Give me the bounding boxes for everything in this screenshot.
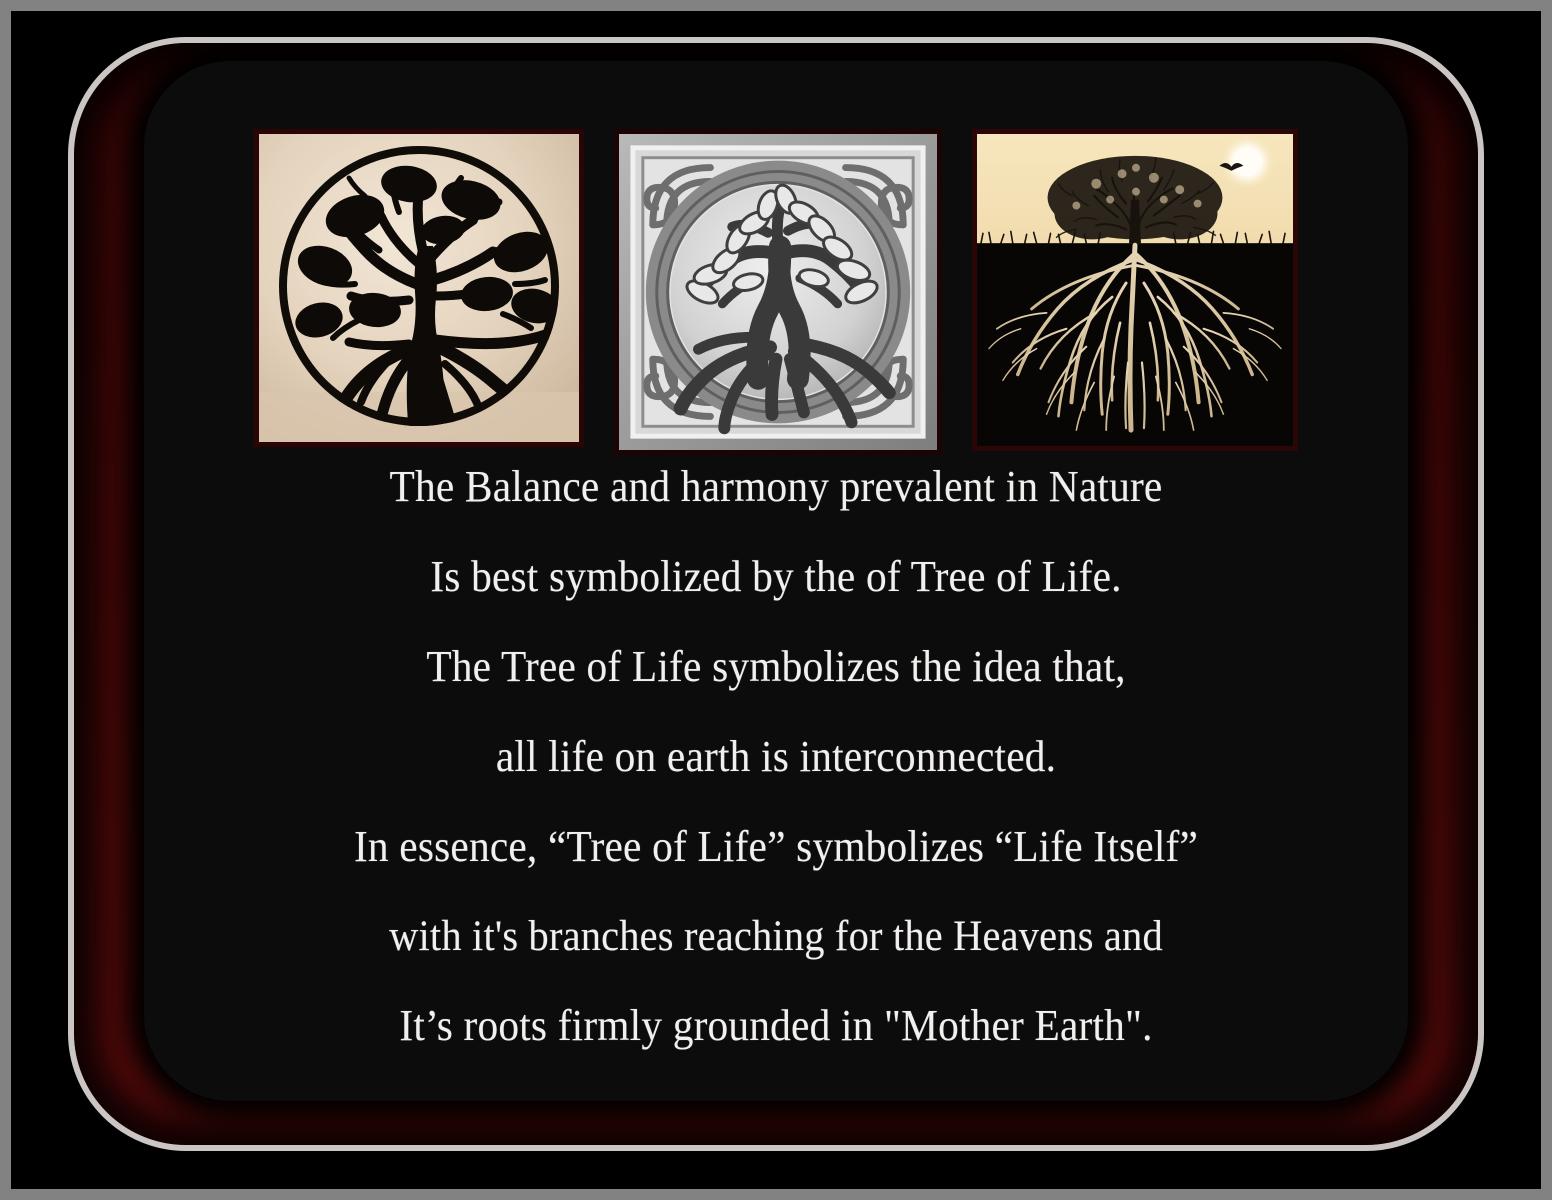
poster-root: The Balance and harmony prevalent in Nat…	[0, 0, 1552, 1200]
stained-glass-celtic-tree-of-life-panel	[614, 129, 942, 455]
tree-with-roots-silhouette-sunset	[972, 129, 1298, 451]
caption-block: The Balance and harmony prevalent in Nat…	[144, 459, 1408, 1101]
stained-glass-graphic	[619, 134, 937, 450]
caption-line-3: The Tree of Life symbolizes the idea tha…	[182, 645, 1370, 689]
caption-line-1: The Balance and harmony prevalent in Nat…	[182, 465, 1370, 509]
circular-metal-tree-of-life-wall-art	[254, 129, 584, 447]
maroon-plaque-border: The Balance and harmony prevalent in Nat…	[68, 37, 1484, 1151]
caption-line-7: It’s roots firmly grounded in "Mother Ea…	[182, 1004, 1370, 1048]
tree-roots-sunset-graphic	[977, 134, 1293, 446]
caption-line-4: all life on earth is interconnected.	[182, 735, 1370, 779]
caption-line-2: Is best symbolized by the of Tree of Lif…	[182, 555, 1370, 599]
black-matte: The Balance and harmony prevalent in Nat…	[11, 11, 1541, 1189]
content-panel: The Balance and harmony prevalent in Nat…	[144, 61, 1408, 1101]
caption-line-5: In essence, “Tree of Life” symbolizes “L…	[182, 825, 1370, 869]
caption-line-6: with it's branches reaching for the Heav…	[182, 915, 1370, 958]
circular-tree-art-graphic	[259, 134, 579, 442]
image-strip	[144, 129, 1408, 449]
